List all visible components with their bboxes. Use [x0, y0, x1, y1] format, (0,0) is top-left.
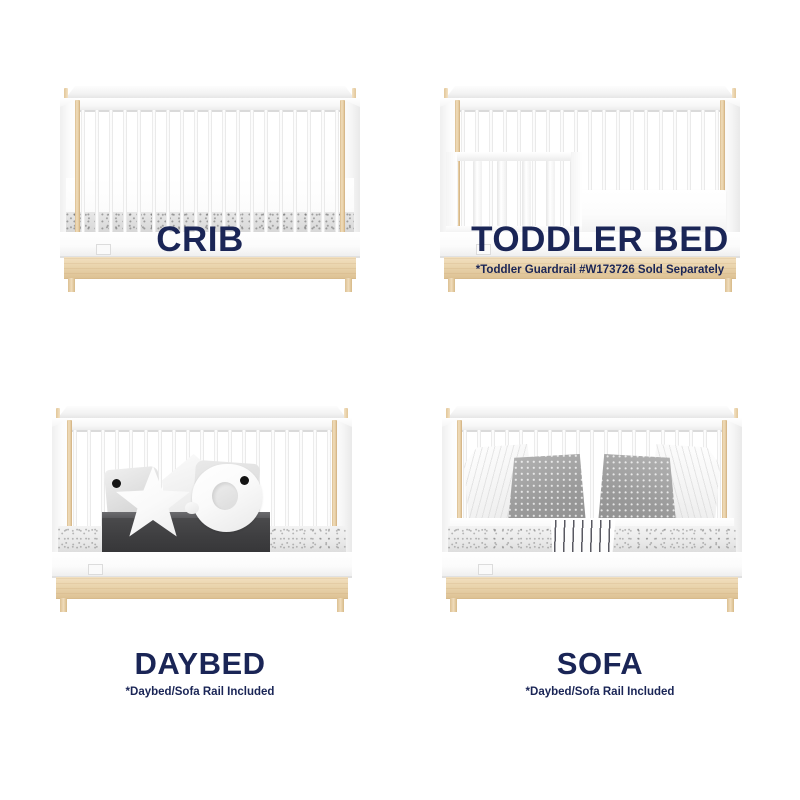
caption-sofa: SOFA *Daybed/Sofa Rail Included	[400, 648, 800, 698]
label-toddler-bed: TODDLER BED	[400, 222, 800, 257]
slat	[180, 110, 184, 232]
wood-leg-right	[345, 278, 352, 292]
guardrail-post	[546, 161, 555, 226]
slat	[321, 110, 325, 232]
slat	[264, 110, 268, 232]
panel-toddler-bed[interactable]: TODDLER BED *Toddler Guardrail #W173726 …	[400, 0, 800, 400]
crib-illustration	[52, 86, 368, 292]
guardrail-post-group	[449, 161, 579, 226]
slat	[123, 110, 127, 232]
wood-base-panel	[64, 257, 356, 279]
guardrail-post	[497, 161, 506, 226]
lower-apron	[52, 552, 352, 578]
note-toddler-bed: *Toddler Guardrail #W173726 Sold Separat…	[400, 264, 800, 276]
slat	[137, 110, 141, 232]
mattress-support-tag	[88, 564, 103, 575]
slat	[307, 110, 311, 232]
caption-daybed: DAYBED *Daybed/Sofa Rail Included	[0, 648, 400, 698]
wood-leg-left	[68, 278, 75, 292]
panel-crib[interactable]: CRIB	[0, 0, 400, 400]
slat	[250, 110, 254, 232]
sofa-illustration	[434, 406, 750, 612]
panel-daybed[interactable]: DAYBED *Daybed/Sofa Rail Included	[0, 400, 400, 800]
caption-crib: CRIB	[0, 222, 400, 257]
mattress-support-tag	[478, 564, 493, 575]
slat	[81, 110, 85, 232]
slat	[194, 110, 198, 232]
slat	[279, 110, 283, 232]
wood-leg-left	[450, 598, 457, 612]
star-pillow-eye	[112, 479, 121, 488]
slat	[95, 110, 99, 232]
label-sofa: SOFA	[400, 648, 800, 679]
slat	[109, 110, 113, 232]
caption-toddler-bed: TODDLER BED *Toddler Guardrail #W173726 …	[400, 222, 800, 276]
slat	[208, 110, 212, 232]
wood-base-panel	[446, 577, 738, 599]
wood-leg-left	[448, 278, 455, 292]
slat	[166, 110, 170, 232]
guardrail-top-rail	[446, 152, 582, 161]
moon-pillow-crescent	[212, 482, 238, 510]
slat-group	[81, 110, 339, 232]
note-sofa: *Daybed/Sofa Rail Included	[400, 686, 800, 698]
slat	[222, 110, 226, 232]
slat	[335, 110, 339, 232]
moon-pillow-eye	[240, 476, 249, 485]
label-crib: CRIB	[0, 222, 400, 257]
configuration-grid: CRIB	[0, 0, 800, 800]
label-daybed: DAYBED	[0, 648, 400, 679]
slat	[152, 110, 156, 232]
panel-sofa[interactable]: SOFA *Daybed/Sofa Rail Included	[400, 400, 800, 800]
slat	[236, 110, 240, 232]
wood-base-panel	[56, 577, 348, 599]
wood-leg-right	[337, 598, 344, 612]
guardrail-post	[522, 161, 531, 226]
note-daybed: *Daybed/Sofa Rail Included	[0, 686, 400, 698]
slat	[293, 110, 297, 232]
wood-leg-left	[60, 598, 67, 612]
daybed-illustration	[44, 406, 360, 612]
lower-apron	[442, 552, 742, 578]
guardrail-post	[473, 161, 482, 226]
wood-leg-right	[725, 278, 732, 292]
wood-leg-right	[727, 598, 734, 612]
moon-pillow-nub	[185, 502, 199, 514]
